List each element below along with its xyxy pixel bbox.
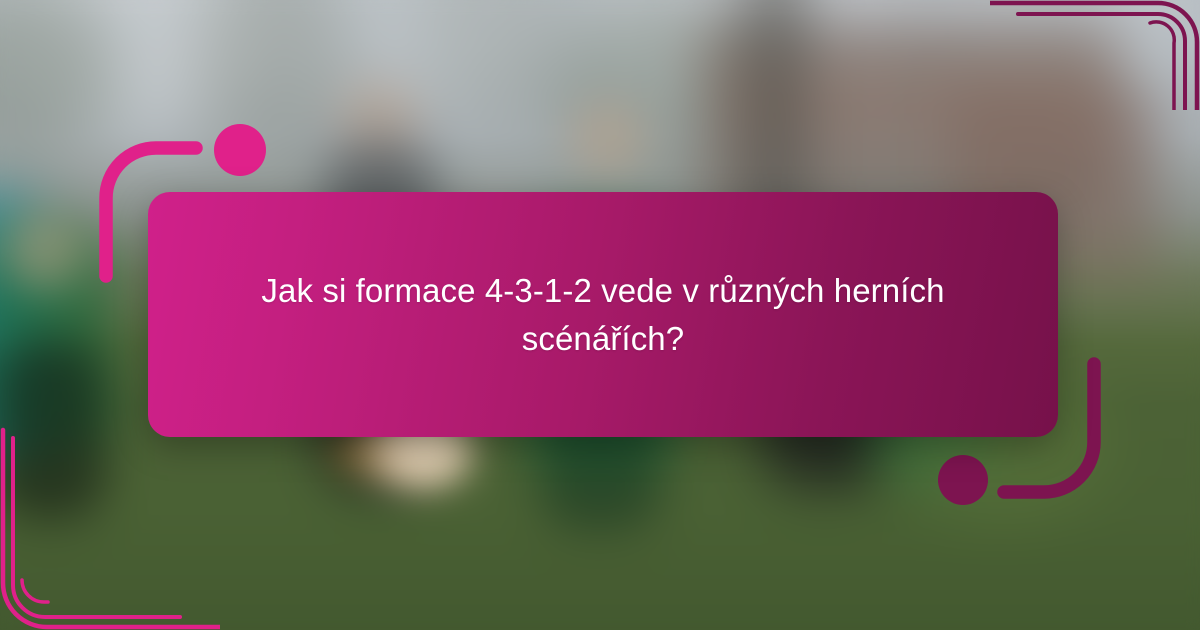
title-card: Jak si formace 4-3-1-2 vede v různých he… [148, 192, 1058, 437]
share-card-canvas: Jak si formace 4-3-1-2 vede v různých he… [0, 0, 1200, 630]
dot-bottom-right [938, 455, 988, 505]
dot-top-left [214, 124, 266, 176]
page-title: Jak si formace 4-3-1-2 vede v různých he… [210, 267, 996, 362]
